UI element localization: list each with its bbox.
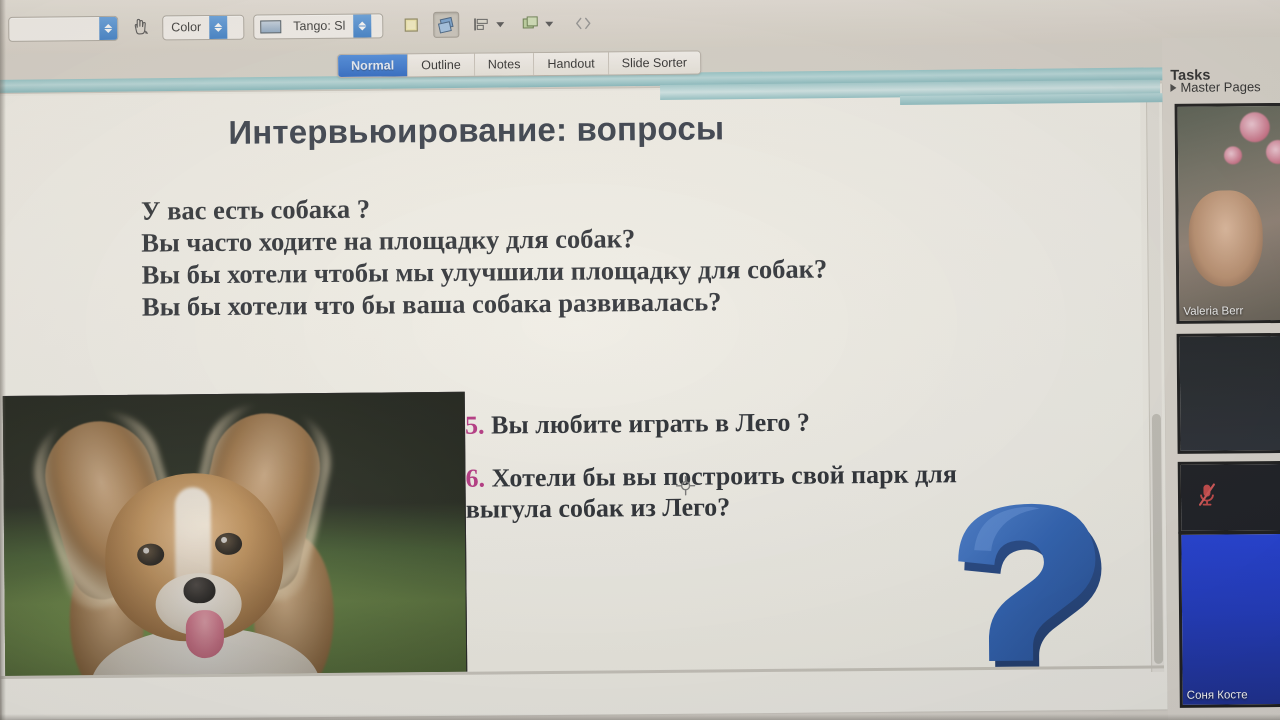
chevron-right-icon[interactable] xyxy=(1170,83,1176,91)
participant-video-2 xyxy=(1180,336,1280,451)
application-window: Color Tango: Sl xyxy=(0,0,1280,720)
master-pages-label: Master Pages xyxy=(1180,79,1260,95)
yellow-square-icon[interactable] xyxy=(398,12,424,38)
decor-flower-1 xyxy=(1240,112,1270,142)
participant-tile-2[interactable] xyxy=(1177,333,1280,454)
hand-pointer-icon[interactable] xyxy=(127,15,153,41)
align-objects-control[interactable] xyxy=(468,11,504,37)
style-combo-stepper[interactable] xyxy=(99,16,117,39)
question-text-6: Хотели бы вы построить свой парк для выг… xyxy=(466,459,957,523)
view-tabs: Normal Outline Notes Handout Slide Sorte… xyxy=(337,51,701,78)
master-slide-combo-stepper[interactable] xyxy=(353,14,371,37)
question-number-5: 5. xyxy=(465,411,485,440)
participant-tile-3[interactable] xyxy=(1178,461,1280,534)
blue-question-mark-graphic[interactable] xyxy=(934,494,1136,676)
master-slide-combo-value: Tango: Sl xyxy=(285,14,353,38)
microphone-muted-icon[interactable] xyxy=(1197,483,1217,509)
style-combo-box[interactable] xyxy=(8,15,118,41)
color-combo-value: Color xyxy=(163,15,209,38)
arrange-chevron-down-icon[interactable] xyxy=(545,21,553,26)
slide-editor-area[interactable]: Интервьюирование: вопросы У вас есть соб… xyxy=(0,83,1168,720)
tab-notes[interactable]: Notes xyxy=(475,53,535,76)
question-number-6: 6. xyxy=(465,464,485,493)
participant-video-3 xyxy=(1181,464,1280,531)
slide-canvas[interactable]: Интервьюирование: вопросы У вас есть соб… xyxy=(0,86,1145,676)
move-crosshair-icon[interactable] xyxy=(675,476,695,496)
participant-tile-1[interactable]: Valeria Berr xyxy=(1175,103,1280,324)
photo-vignette xyxy=(0,393,466,676)
vertical-scrollbar-thumb[interactable] xyxy=(1152,414,1163,664)
tab-normal[interactable]: Normal xyxy=(338,54,408,77)
participant-video-1 xyxy=(1178,106,1280,321)
tab-outline[interactable]: Outline xyxy=(408,54,475,77)
tasks-panel: Tasks Master Pages Valeria Berr xyxy=(1162,37,1280,720)
participant-face-1 xyxy=(1188,190,1263,287)
style-combo-value xyxy=(9,28,99,29)
participant-tile-4[interactable]: Соня Косте xyxy=(1178,531,1280,708)
body-line-4: Вы бы хотели что бы ваша собака развивал… xyxy=(142,284,932,323)
rotate-icon[interactable] xyxy=(570,10,596,36)
tab-handout[interactable]: Handout xyxy=(534,52,608,75)
decor-flower-2 xyxy=(1266,140,1280,164)
color-combo-box[interactable]: Color xyxy=(162,14,244,40)
sidebar-item-master-pages[interactable]: Master Pages xyxy=(1170,79,1260,95)
shadow-shape-icon[interactable] xyxy=(433,12,459,38)
participant-name-1: Valeria Berr xyxy=(1183,305,1243,318)
question-item-6: 6. Хотели бы вы построить свой парк для … xyxy=(465,458,966,525)
papillon-dog-photo[interactable] xyxy=(0,392,467,676)
question-item-5: 5. Вы любите играть в Лего ? xyxy=(465,405,965,441)
participant-name-4: Соня Косте xyxy=(1187,689,1248,702)
top-toolbar: Color Tango: Sl xyxy=(0,0,1280,54)
question-text-5: Вы любите играть в Лего ? xyxy=(491,408,810,440)
master-slide-combo-box[interactable]: Tango: Sl xyxy=(253,13,383,39)
decor-flower-3 xyxy=(1224,146,1242,164)
arrange-control[interactable] xyxy=(517,11,553,37)
page-title[interactable]: Интервьюирование: вопросы xyxy=(228,109,724,151)
align-chevron-down-icon[interactable] xyxy=(496,22,504,27)
numbered-questions-text[interactable]: 5. Вы любите играть в Лего ? 6. Хотели б… xyxy=(465,405,966,547)
participant-video-4 xyxy=(1181,534,1280,705)
align-objects-icon[interactable] xyxy=(468,11,494,37)
tab-slide-sorter[interactable]: Slide Sorter xyxy=(609,52,701,75)
color-combo-stepper[interactable] xyxy=(209,15,227,38)
green-shape-icon[interactable] xyxy=(517,11,543,37)
slide-preview-swatch-icon xyxy=(260,20,281,33)
slide-body-text[interactable]: У вас есть собака ? Вы часто ходите на п… xyxy=(141,188,932,323)
